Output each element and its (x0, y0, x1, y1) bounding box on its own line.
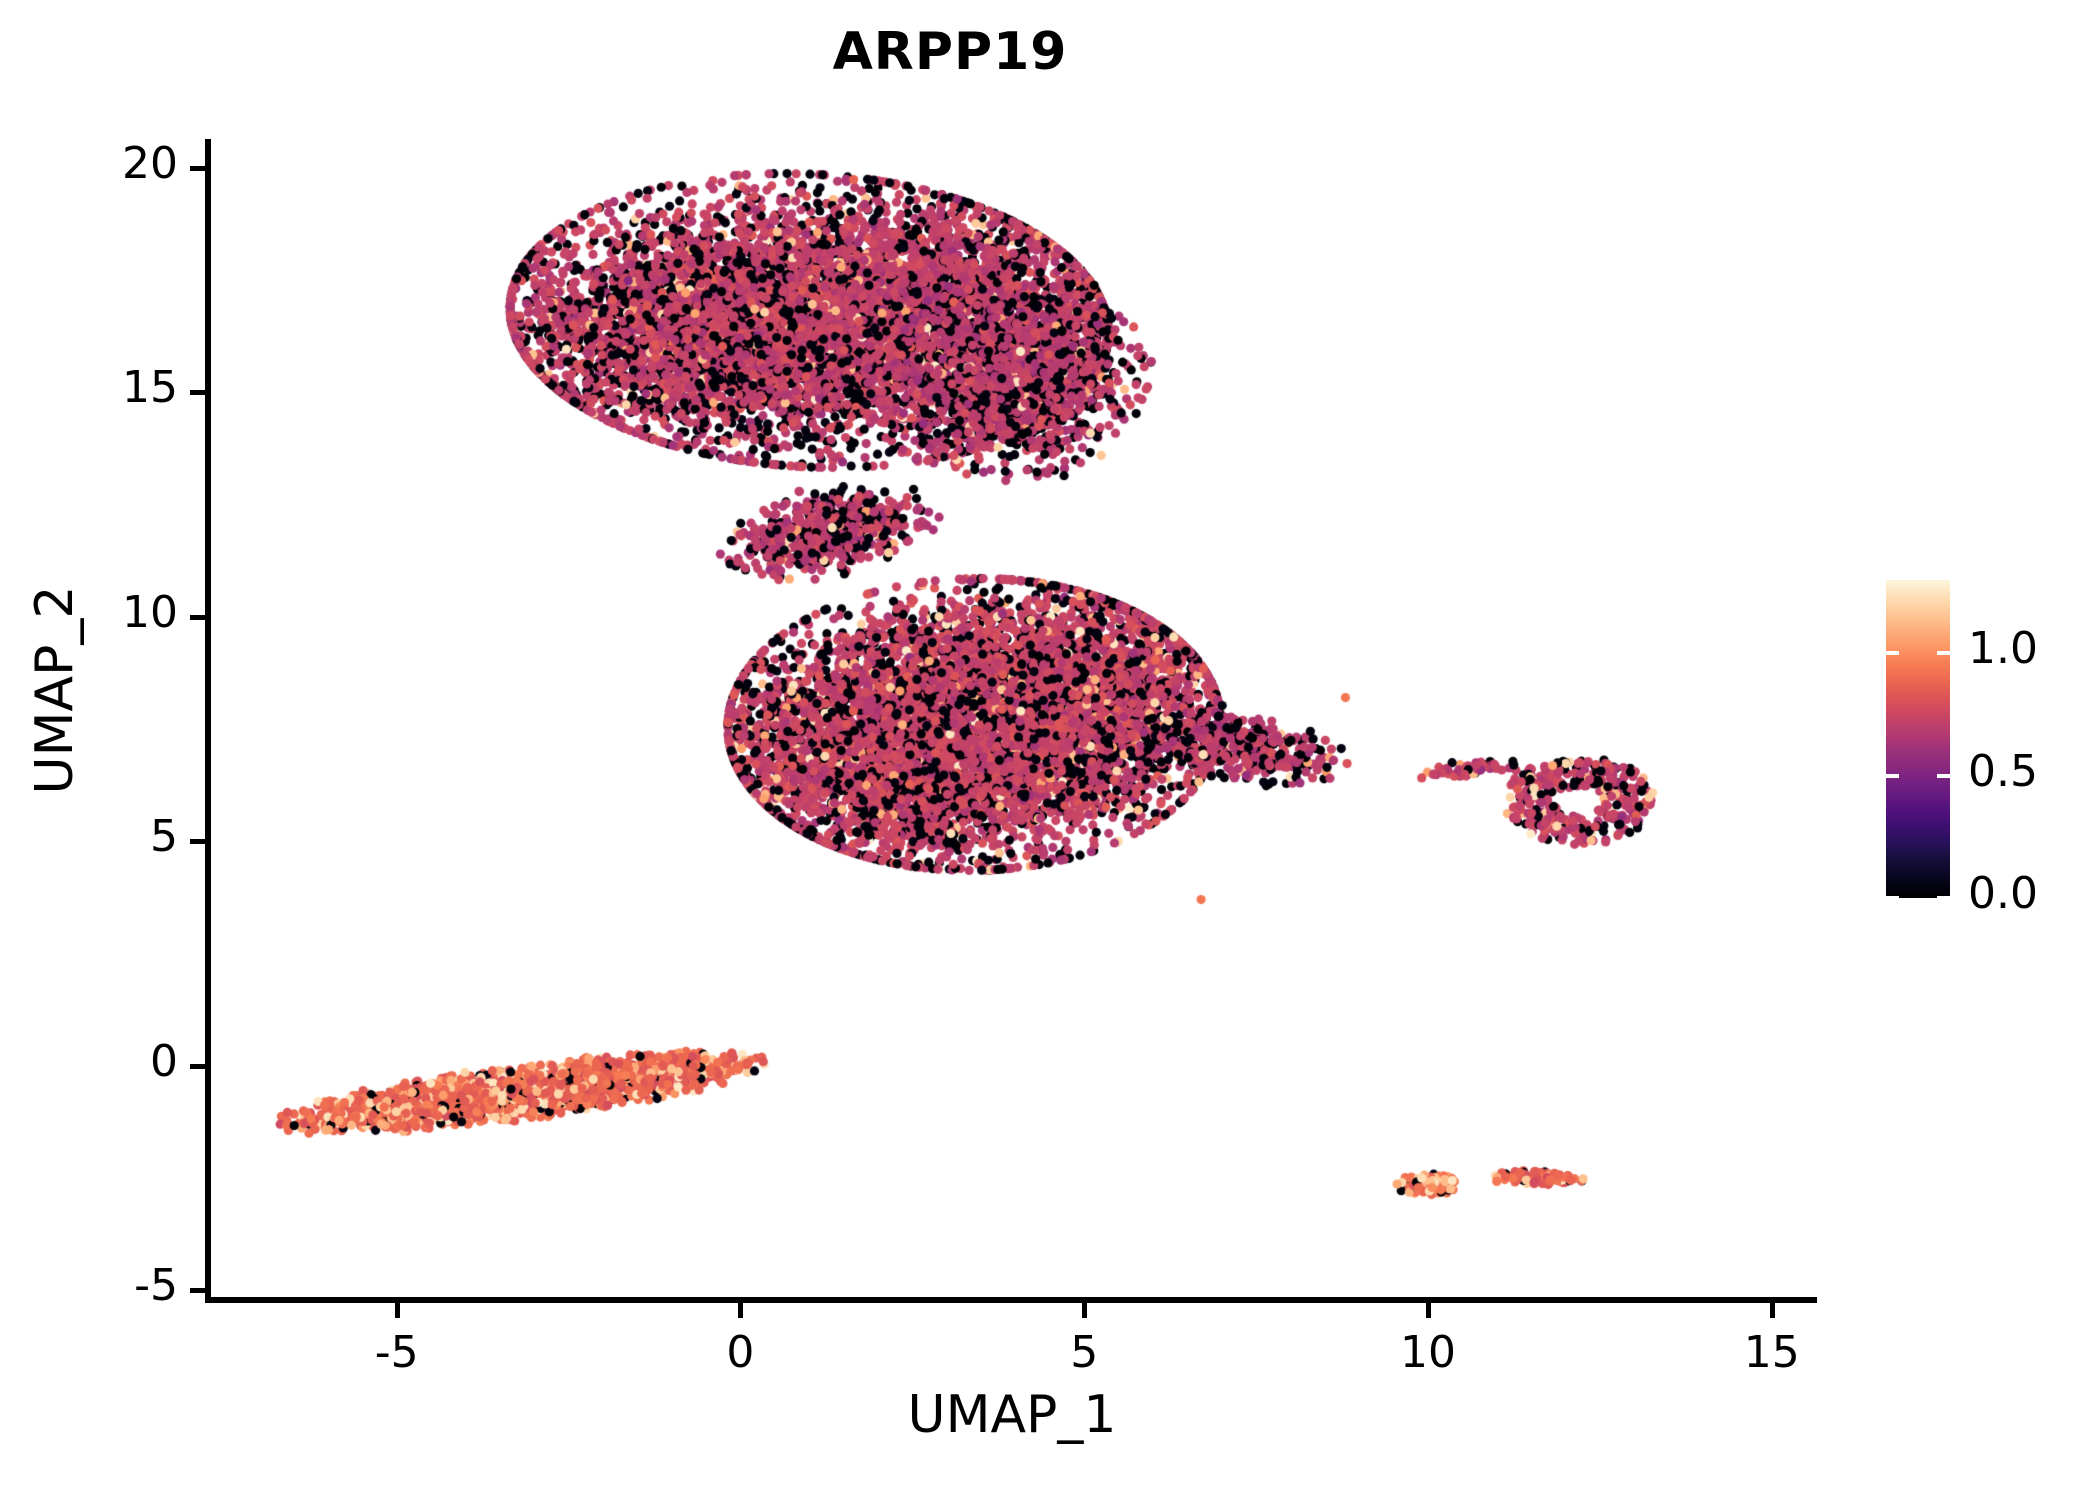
x-tick-label-15: 15 (1672, 1327, 1872, 1378)
y-tick-label-0: 0 (0, 1036, 178, 1087)
x-tick-label-5: 5 (984, 1327, 1184, 1378)
colorbar-tick-0.5 (1886, 774, 1899, 778)
plot-area[interactable] (211, 141, 1813, 1299)
colorbar-label-0.5: 0.5 (1968, 746, 2038, 797)
colorbar-tick-0.5 (1937, 774, 1950, 778)
y-tick--5 (190, 1288, 205, 1293)
y-tick-10 (190, 615, 205, 620)
y-tick-label--5: -5 (0, 1260, 178, 1311)
colorbar-tick-1.0 (1937, 651, 1950, 655)
x-axis-spine (205, 1297, 1817, 1303)
x-tick-label--5: -5 (297, 1327, 497, 1378)
x-axis-label: UMAP_1 (211, 1385, 1813, 1445)
y-tick-0 (190, 1064, 205, 1069)
colorbar[interactable] (1886, 580, 1950, 898)
page-title: ARPP19 (0, 22, 1900, 82)
y-tick-20 (190, 166, 205, 171)
x-tick-0 (738, 1303, 743, 1318)
x-tick--5 (395, 1303, 400, 1318)
y-tick-15 (190, 390, 205, 395)
y-tick-label-20: 20 (0, 138, 178, 189)
umap-feature-plot: ARPP19 20151050-5-5051015 UMAP_1 UMAP_2 … (0, 0, 2100, 1500)
x-tick-10 (1426, 1303, 1431, 1318)
x-tick-5 (1082, 1303, 1087, 1318)
colorbar-label-0.0: 0.0 (1968, 868, 2038, 919)
x-tick-15 (1770, 1303, 1775, 1318)
scatter-canvas[interactable] (211, 141, 1813, 1299)
y-axis-spine (205, 139, 211, 1303)
colorbar-tick-0.0 (1937, 896, 1950, 900)
x-tick-label-0: 0 (640, 1327, 840, 1378)
colorbar-label-1.0: 1.0 (1968, 623, 2038, 674)
colorbar-gradient (1886, 580, 1950, 898)
colorbar-tick-0.0 (1886, 896, 1899, 900)
y-axis-label: UMAP_2 (25, 380, 85, 1000)
y-tick-5 (190, 839, 205, 844)
colorbar-tick-1.0 (1886, 651, 1899, 655)
x-tick-label-10: 10 (1328, 1327, 1528, 1378)
